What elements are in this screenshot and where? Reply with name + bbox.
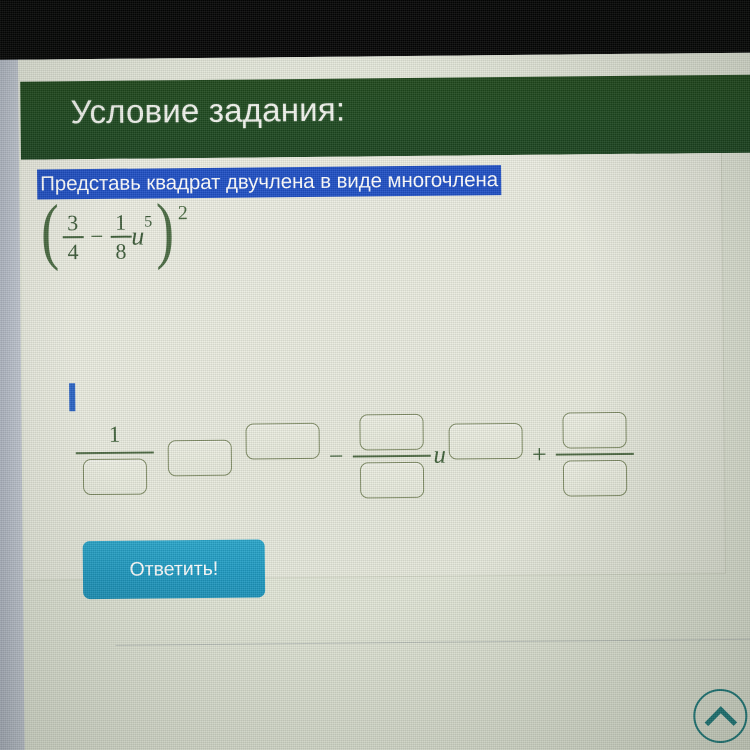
expression-open-paren: ( [41, 199, 59, 263]
answer-input-denominator-2[interactable] [360, 462, 424, 499]
answer-input-numerator-3[interactable] [562, 412, 626, 449]
answer-fraction-1: 1 [75, 422, 154, 495]
answer-input-denominator-1[interactable] [83, 459, 147, 496]
expression-outer-exponent: 2 [178, 202, 188, 225]
task-expression: ( 3 4 − 1 8 u5 ) 2 [37, 204, 188, 263]
chevron-up-circle-icon[interactable] [693, 689, 748, 744]
fraction-bar [62, 236, 83, 238]
photo-black-band [0, 0, 750, 62]
submit-answer-button[interactable]: Ответить! [83, 539, 266, 599]
answer-input-box-2[interactable] [168, 440, 232, 477]
variable-letter: u [131, 222, 144, 251]
expression-body: 3 4 − 1 8 u5 [62, 210, 152, 263]
expression-variable: u5 [131, 221, 152, 251]
fraction-denominator: 8 [110, 240, 131, 263]
fraction-numerator: 1 [110, 211, 131, 234]
answer-fraction-1-numerator: 1 [109, 423, 121, 447]
fraction-numerator: 3 [62, 211, 83, 234]
answer-fraction-2 [352, 414, 431, 499]
answer-operator-plus: + [523, 440, 556, 470]
answer-input-box-3[interactable] [246, 423, 320, 460]
task-prompt-container: Представь квадрат двучлена в виде многоч… [37, 165, 501, 199]
screen-surface: Условие задания: Представь квадрат двучл… [0, 53, 750, 750]
fraction-one-eighth: 1 8 [110, 211, 131, 263]
answer-input-numerator-2[interactable] [359, 414, 423, 451]
task-header-banner: Условие задания: [20, 74, 750, 159]
answer-input-exponent[interactable] [449, 423, 523, 460]
answer-operator-minus: − [320, 442, 353, 472]
answer-variable-u: u [430, 442, 449, 470]
answer-fraction-1-bar [76, 451, 154, 454]
fraction-bar [110, 236, 131, 238]
answer-input-denominator-3[interactable] [563, 460, 627, 497]
screen-photo: Условие задания: Представь квадрат двучл… [0, 0, 750, 750]
page-title: Условие задания: [70, 91, 345, 132]
back-to-task-list[interactable]: Список зад [660, 688, 750, 750]
answer-fraction-2-bar [352, 455, 430, 458]
expression-close-paren: ) [155, 198, 173, 262]
task-prompt-text[interactable]: Представь квадрат двучлена в виде многоч… [37, 165, 501, 199]
text-caret [69, 383, 75, 411]
answer-fraction-3 [555, 412, 634, 497]
fraction-denominator: 4 [62, 240, 83, 263]
expression-minus-operator: − [83, 224, 110, 250]
variable-exponent: 5 [144, 214, 152, 231]
answer-fraction-3-bar [556, 453, 634, 456]
answer-expression-row: 1 − u + [75, 412, 634, 501]
fraction-three-quarters: 3 4 [62, 211, 83, 263]
